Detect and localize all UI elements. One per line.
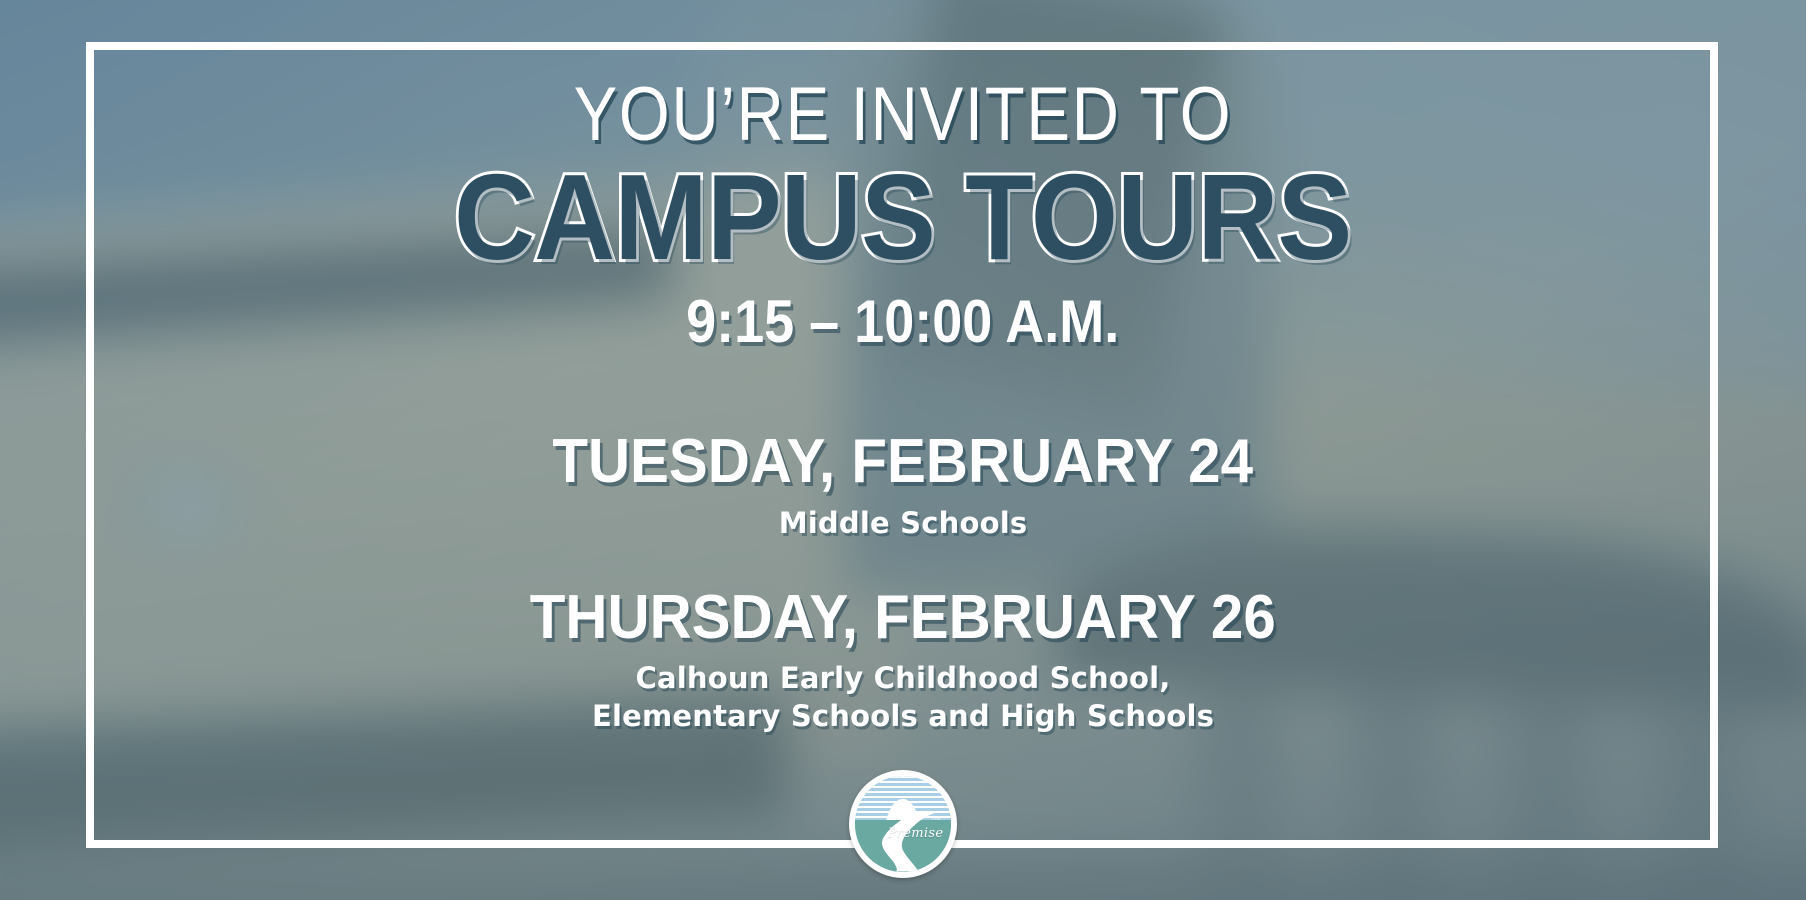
flyer-content: YOU’RE INVITED TO CAMPUS TOURS 9:15 – 10… (0, 0, 1806, 900)
logo-disc: THE Premise (855, 776, 951, 872)
event-date-1: TUESDAY, FEBRUARY 24 (553, 430, 1254, 493)
event-detail-2-line-2: Elementary Schools and High Schools (506, 697, 1300, 735)
event-detail-2: Calhoun Early Childhood School, Elementa… (506, 659, 1300, 736)
event-block-thursday: THURSDAY, FEBRUARY 26 Calhoun Early Chil… (506, 586, 1300, 736)
campus-tours-flyer: YOU’RE INVITED TO CAMPUS TOURS 9:15 – 10… (0, 0, 1806, 900)
event-time: 9:15 – 10:00 A.M. (686, 292, 1119, 352)
event-block-tuesday: TUESDAY, FEBRUARY 24 Middle Schools (530, 430, 1275, 542)
logo-script-text: Premise (888, 826, 944, 841)
event-date-2: THURSDAY, FEBRUARY 26 (530, 586, 1276, 649)
event-detail-2-line-1: Calhoun Early Childhood School, (506, 659, 1300, 697)
invitation-kicker: YOU’RE INVITED TO (574, 78, 1233, 152)
district-logo: THE Premise (849, 770, 957, 878)
page-title: CAMPUS TOURS (454, 156, 1351, 278)
logo-small-text: THE (931, 817, 941, 822)
event-detail-1-line-1: Middle Schools (530, 504, 1275, 542)
